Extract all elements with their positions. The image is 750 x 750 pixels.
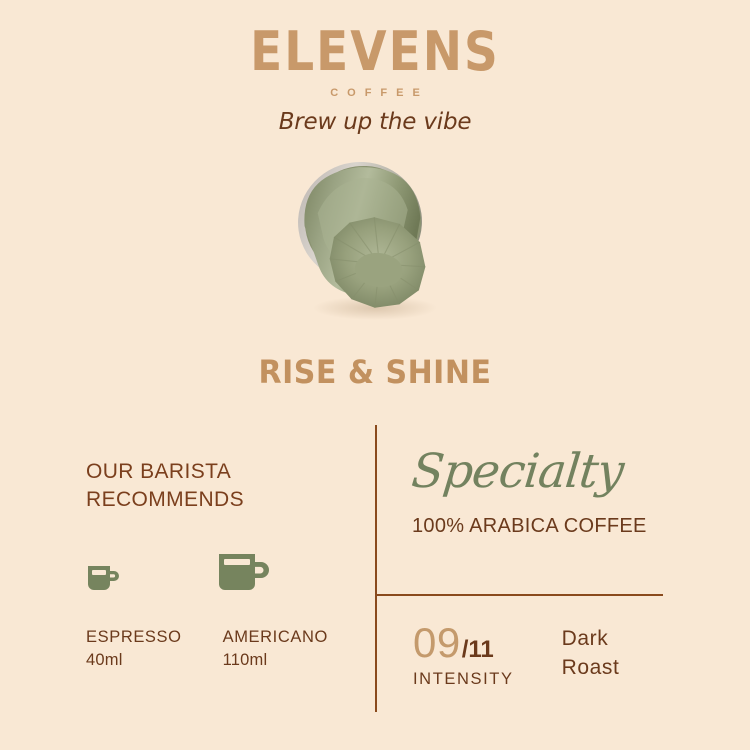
- serving-americano-name: AMERICANO: [223, 626, 328, 649]
- roast-line2: Roast: [562, 653, 620, 682]
- horizontal-divider: [375, 594, 663, 596]
- serving-espresso: ESPRESSO 40ml: [86, 626, 182, 673]
- espresso-cup-icon: [86, 564, 120, 594]
- brand-name: ELEVENS: [0, 24, 750, 78]
- serving-americano-volume: 110ml: [223, 649, 328, 672]
- capsule-image: [0, 150, 750, 325]
- barista-heading-line1: OUR BARISTA: [86, 458, 356, 486]
- brand-header: ELEVENS COFFEE Brew up the vibe: [0, 24, 750, 135]
- intensity-max: /11: [462, 638, 494, 662]
- intensity-label: INTENSITY: [413, 670, 514, 689]
- intensity-section: 09 /11 INTENSITY Dark Roast: [413, 622, 619, 689]
- brand-subtitle: COFFEE: [0, 87, 750, 99]
- specialty-script-label: Specialty: [410, 448, 626, 495]
- brand-tagline: Brew up the vibe: [0, 109, 750, 135]
- serving-americano: AMERICANO 110ml: [223, 626, 328, 673]
- roast-line1: Dark: [562, 624, 620, 653]
- barista-heading: OUR BARISTA RECOMMENDS: [86, 458, 356, 513]
- cup-icons-row: [86, 552, 273, 594]
- barista-heading-line2: RECOMMENDS: [86, 486, 356, 514]
- americano-mug-icon: [217, 552, 273, 594]
- serving-labels: ESPRESSO 40ml AMERICANO 110ml: [86, 626, 328, 673]
- intensity-value: 09: [413, 622, 461, 664]
- coffee-capsule-icon: [275, 150, 475, 325]
- serving-espresso-name: ESPRESSO: [86, 626, 182, 649]
- intensity-numbers: 09 /11: [413, 622, 514, 664]
- specialty-section: Specialty 100% ARABICA COFFEE: [412, 448, 712, 538]
- product-card: ELEVENS COFFEE Brew up the vibe: [0, 0, 750, 750]
- roast-type: Dark Roast: [562, 622, 620, 683]
- arabica-text: 100% ARABICA COFFEE: [412, 515, 712, 538]
- barista-recommends-section: OUR BARISTA RECOMMENDS: [86, 458, 356, 513]
- serving-espresso-volume: 40ml: [86, 649, 182, 672]
- product-title: RISE & SHINE: [0, 354, 750, 392]
- vertical-divider: [375, 425, 377, 712]
- intensity-rating: 09 /11 INTENSITY: [413, 622, 514, 689]
